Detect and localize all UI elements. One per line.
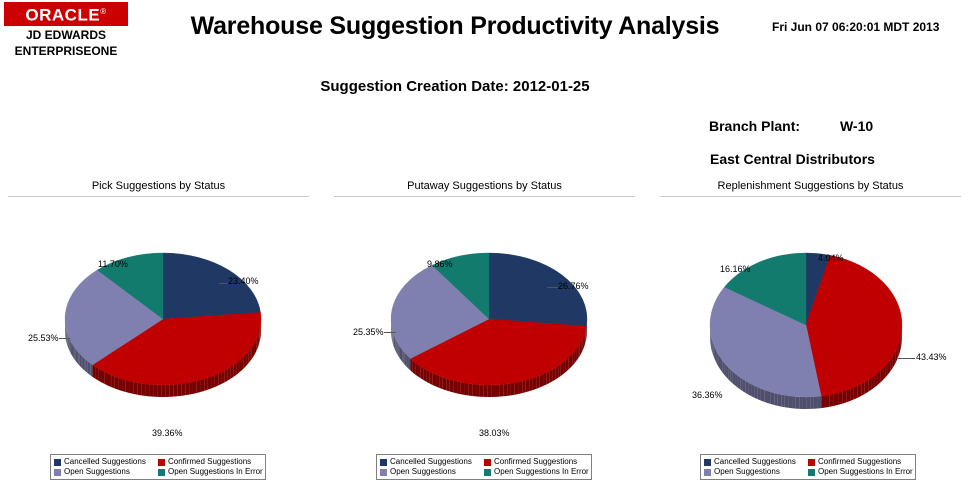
pie-chart-putaway: 9.86% 26.76% 25.35% 38.03% xyxy=(332,197,637,412)
legend-pick: Cancelled Suggestions Confirmed Suggesti… xyxy=(50,454,266,480)
legend-item-cancelled: Cancelled Suggestions xyxy=(704,457,808,467)
legend-swatch-icon xyxy=(54,459,61,466)
legend-item-confirmed: Confirmed Suggestions xyxy=(484,457,588,467)
legend-row: Cancelled Suggestions Confirmed Suggesti… xyxy=(704,457,912,467)
legend-item-cancelled: Cancelled Suggestions xyxy=(380,457,484,467)
putaway-suggestions-panel: Putaway Suggestions by Status 9.86% 26.7… xyxy=(332,180,637,485)
legend-swatch-icon xyxy=(158,459,165,466)
legend-row: Cancelled Suggestions Confirmed Suggesti… xyxy=(54,457,262,467)
pie-graphic xyxy=(6,197,311,412)
legend-item-confirmed: Confirmed Suggestions xyxy=(808,457,912,467)
slice-label-confirmed: 43.43% xyxy=(916,352,947,362)
chart-title-putaway: Putaway Suggestions by Status xyxy=(332,180,637,196)
legend-label: Confirmed Suggestions xyxy=(494,457,577,467)
slice-label-cancelled: 26.76% xyxy=(558,281,589,291)
branch-plant-name: East Central Distributors xyxy=(710,151,875,167)
slice-label-open-error: 9.86% xyxy=(427,259,453,269)
report-page: ORACLE® JD EDWARDS ENTERPRISEONE Warehou… xyxy=(0,0,971,499)
page-title: Warehouse Suggestion Productivity Analys… xyxy=(150,12,760,41)
legend-swatch-icon xyxy=(484,469,491,476)
pie-chart-pick: 11.70% 23.40% 25.53% 39.36% xyxy=(6,197,311,412)
legend-row: Cancelled Suggestions Confirmed Suggesti… xyxy=(380,457,588,467)
leader-line xyxy=(59,338,70,339)
legend-label: Open Suggestions xyxy=(390,467,456,477)
oracle-wordmark: ORACLE® xyxy=(4,2,128,26)
pie-chart-replenishment: 4.04% 16.16% 43.43% 36.36% xyxy=(658,197,963,412)
pick-suggestions-panel: Pick Suggestions by Status 11.70% 23.40%… xyxy=(6,180,311,485)
legend-label: Confirmed Suggestions xyxy=(818,457,901,467)
legend-label: Cancelled Suggestions xyxy=(64,457,146,467)
legend-swatch-icon xyxy=(380,469,387,476)
leader-line xyxy=(384,332,396,333)
slice-label-confirmed: 38.03% xyxy=(479,428,510,438)
legend-putaway: Cancelled Suggestions Confirmed Suggesti… xyxy=(376,454,592,480)
legend-swatch-icon xyxy=(808,469,815,476)
slice-label-open-error: 11.70% xyxy=(98,259,128,269)
legend-swatch-icon xyxy=(484,459,491,466)
logo-line-jd-edwards: JD EDWARDS xyxy=(4,28,128,42)
leader-line xyxy=(547,287,558,288)
slice-label-open: 25.35% xyxy=(353,327,384,337)
legend-item-open-error: Open Suggestions In Error xyxy=(808,467,912,477)
legend-item-confirmed: Confirmed Suggestions xyxy=(158,457,262,467)
branch-plant-label: Branch Plant: xyxy=(709,118,800,134)
chart-title-pick: Pick Suggestions by Status xyxy=(6,180,311,196)
legend-item-open: Open Suggestions xyxy=(704,467,808,477)
slice-label-confirmed: 39.36% xyxy=(152,428,183,438)
branch-plant-value: W-10 xyxy=(840,118,873,134)
logo-line-enterpriseone: ENTERPRISEONE xyxy=(4,44,128,58)
suggestion-creation-date: Suggestion Creation Date: 2012-01-25 xyxy=(150,78,760,95)
legend-label: Confirmed Suggestions xyxy=(168,457,251,467)
legend-swatch-icon xyxy=(380,459,387,466)
replenishment-suggestions-panel: Replenishment Suggestions by Status 4.04… xyxy=(658,180,963,485)
legend-swatch-icon xyxy=(704,469,711,476)
slice-label-cancelled: 4.04% xyxy=(818,253,844,263)
leader-line xyxy=(898,358,915,359)
legend-replenishment: Cancelled Suggestions Confirmed Suggesti… xyxy=(700,454,916,480)
legend-item-open: Open Suggestions xyxy=(380,467,484,477)
legend-label: Open Suggestions In Error xyxy=(818,467,913,477)
pie-graphic xyxy=(332,197,637,412)
legend-label: Open Suggestions xyxy=(714,467,780,477)
pie-graphic xyxy=(658,197,963,412)
legend-row: Open Suggestions Open Suggestions In Err… xyxy=(54,467,262,477)
oracle-text: ORACLE xyxy=(25,6,100,25)
slice-label-open: 25.53% xyxy=(28,333,59,343)
legend-label: Cancelled Suggestions xyxy=(714,457,796,467)
oracle-jdedwards-logo: ORACLE® JD EDWARDS ENTERPRISEONE xyxy=(4,2,128,60)
slice-label-cancelled: 23.40% xyxy=(228,276,259,286)
legend-swatch-icon xyxy=(158,469,165,476)
slice-label-open-error: 16.16% xyxy=(720,264,751,274)
report-timestamp: Fri Jun 07 06:20:01 MDT 2013 xyxy=(772,20,939,34)
legend-swatch-icon xyxy=(808,459,815,466)
chart-title-replenishment: Replenishment Suggestions by Status xyxy=(658,180,963,196)
leader-line xyxy=(219,283,228,284)
legend-label: Open Suggestions In Error xyxy=(494,467,589,477)
legend-item-cancelled: Cancelled Suggestions xyxy=(54,457,158,467)
legend-item-open-error: Open Suggestions In Error xyxy=(484,467,588,477)
legend-swatch-icon xyxy=(54,469,61,476)
legend-label: Cancelled Suggestions xyxy=(390,457,472,467)
legend-item-open: Open Suggestions xyxy=(54,467,158,477)
trademark-icon: ® xyxy=(100,7,106,16)
legend-row: Open Suggestions Open Suggestions In Err… xyxy=(380,467,588,477)
legend-label: Open Suggestions In Error xyxy=(168,467,263,477)
legend-label: Open Suggestions xyxy=(64,467,130,477)
slice-label-open: 36.36% xyxy=(692,390,723,400)
legend-swatch-icon xyxy=(704,459,711,466)
legend-row: Open Suggestions Open Suggestions In Err… xyxy=(704,467,912,477)
legend-item-open-error: Open Suggestions In Error xyxy=(158,467,262,477)
